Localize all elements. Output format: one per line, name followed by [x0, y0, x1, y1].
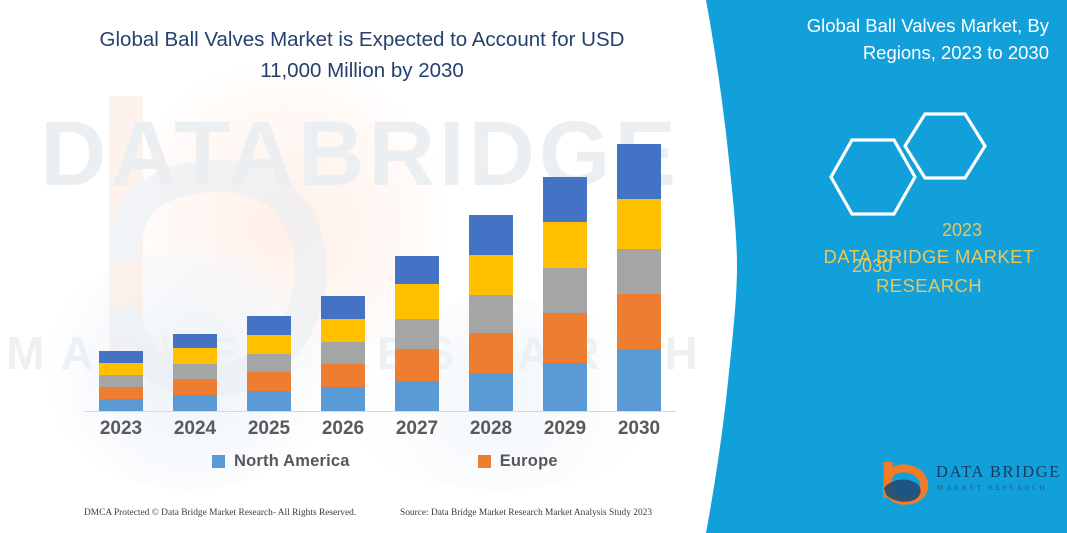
- infographic-canvas: DATABRIDGE MARKET RESEARCH Global Ball V…: [0, 0, 1067, 533]
- brand-name: DATA BRIDGE MARKET RESEARCH: [795, 242, 1063, 300]
- brand-line-1: DATA BRIDGE MARKET: [823, 246, 1034, 267]
- panel-title: Global Ball Valves Market, By Regions, 2…: [737, 12, 1049, 66]
- data-bridge-b-mark-icon: [880, 458, 932, 506]
- brand-line-2: RESEARCH: [876, 275, 982, 296]
- hex-2023-outline-icon: [905, 114, 985, 178]
- hex-badge-label-2023: 2023: [942, 220, 982, 241]
- logo-text-sub: MARKET RESEARCH: [937, 483, 1048, 492]
- company-logo: DATA BRIDGE MARKET RESEARCH: [880, 458, 1060, 506]
- hex-2030-outline-icon: [831, 140, 915, 214]
- hex-badge-shapes-icon: [820, 92, 1050, 222]
- hex-badge-group: 2023 2030: [820, 92, 1050, 222]
- logo-text-main: DATA BRIDGE: [936, 462, 1061, 482]
